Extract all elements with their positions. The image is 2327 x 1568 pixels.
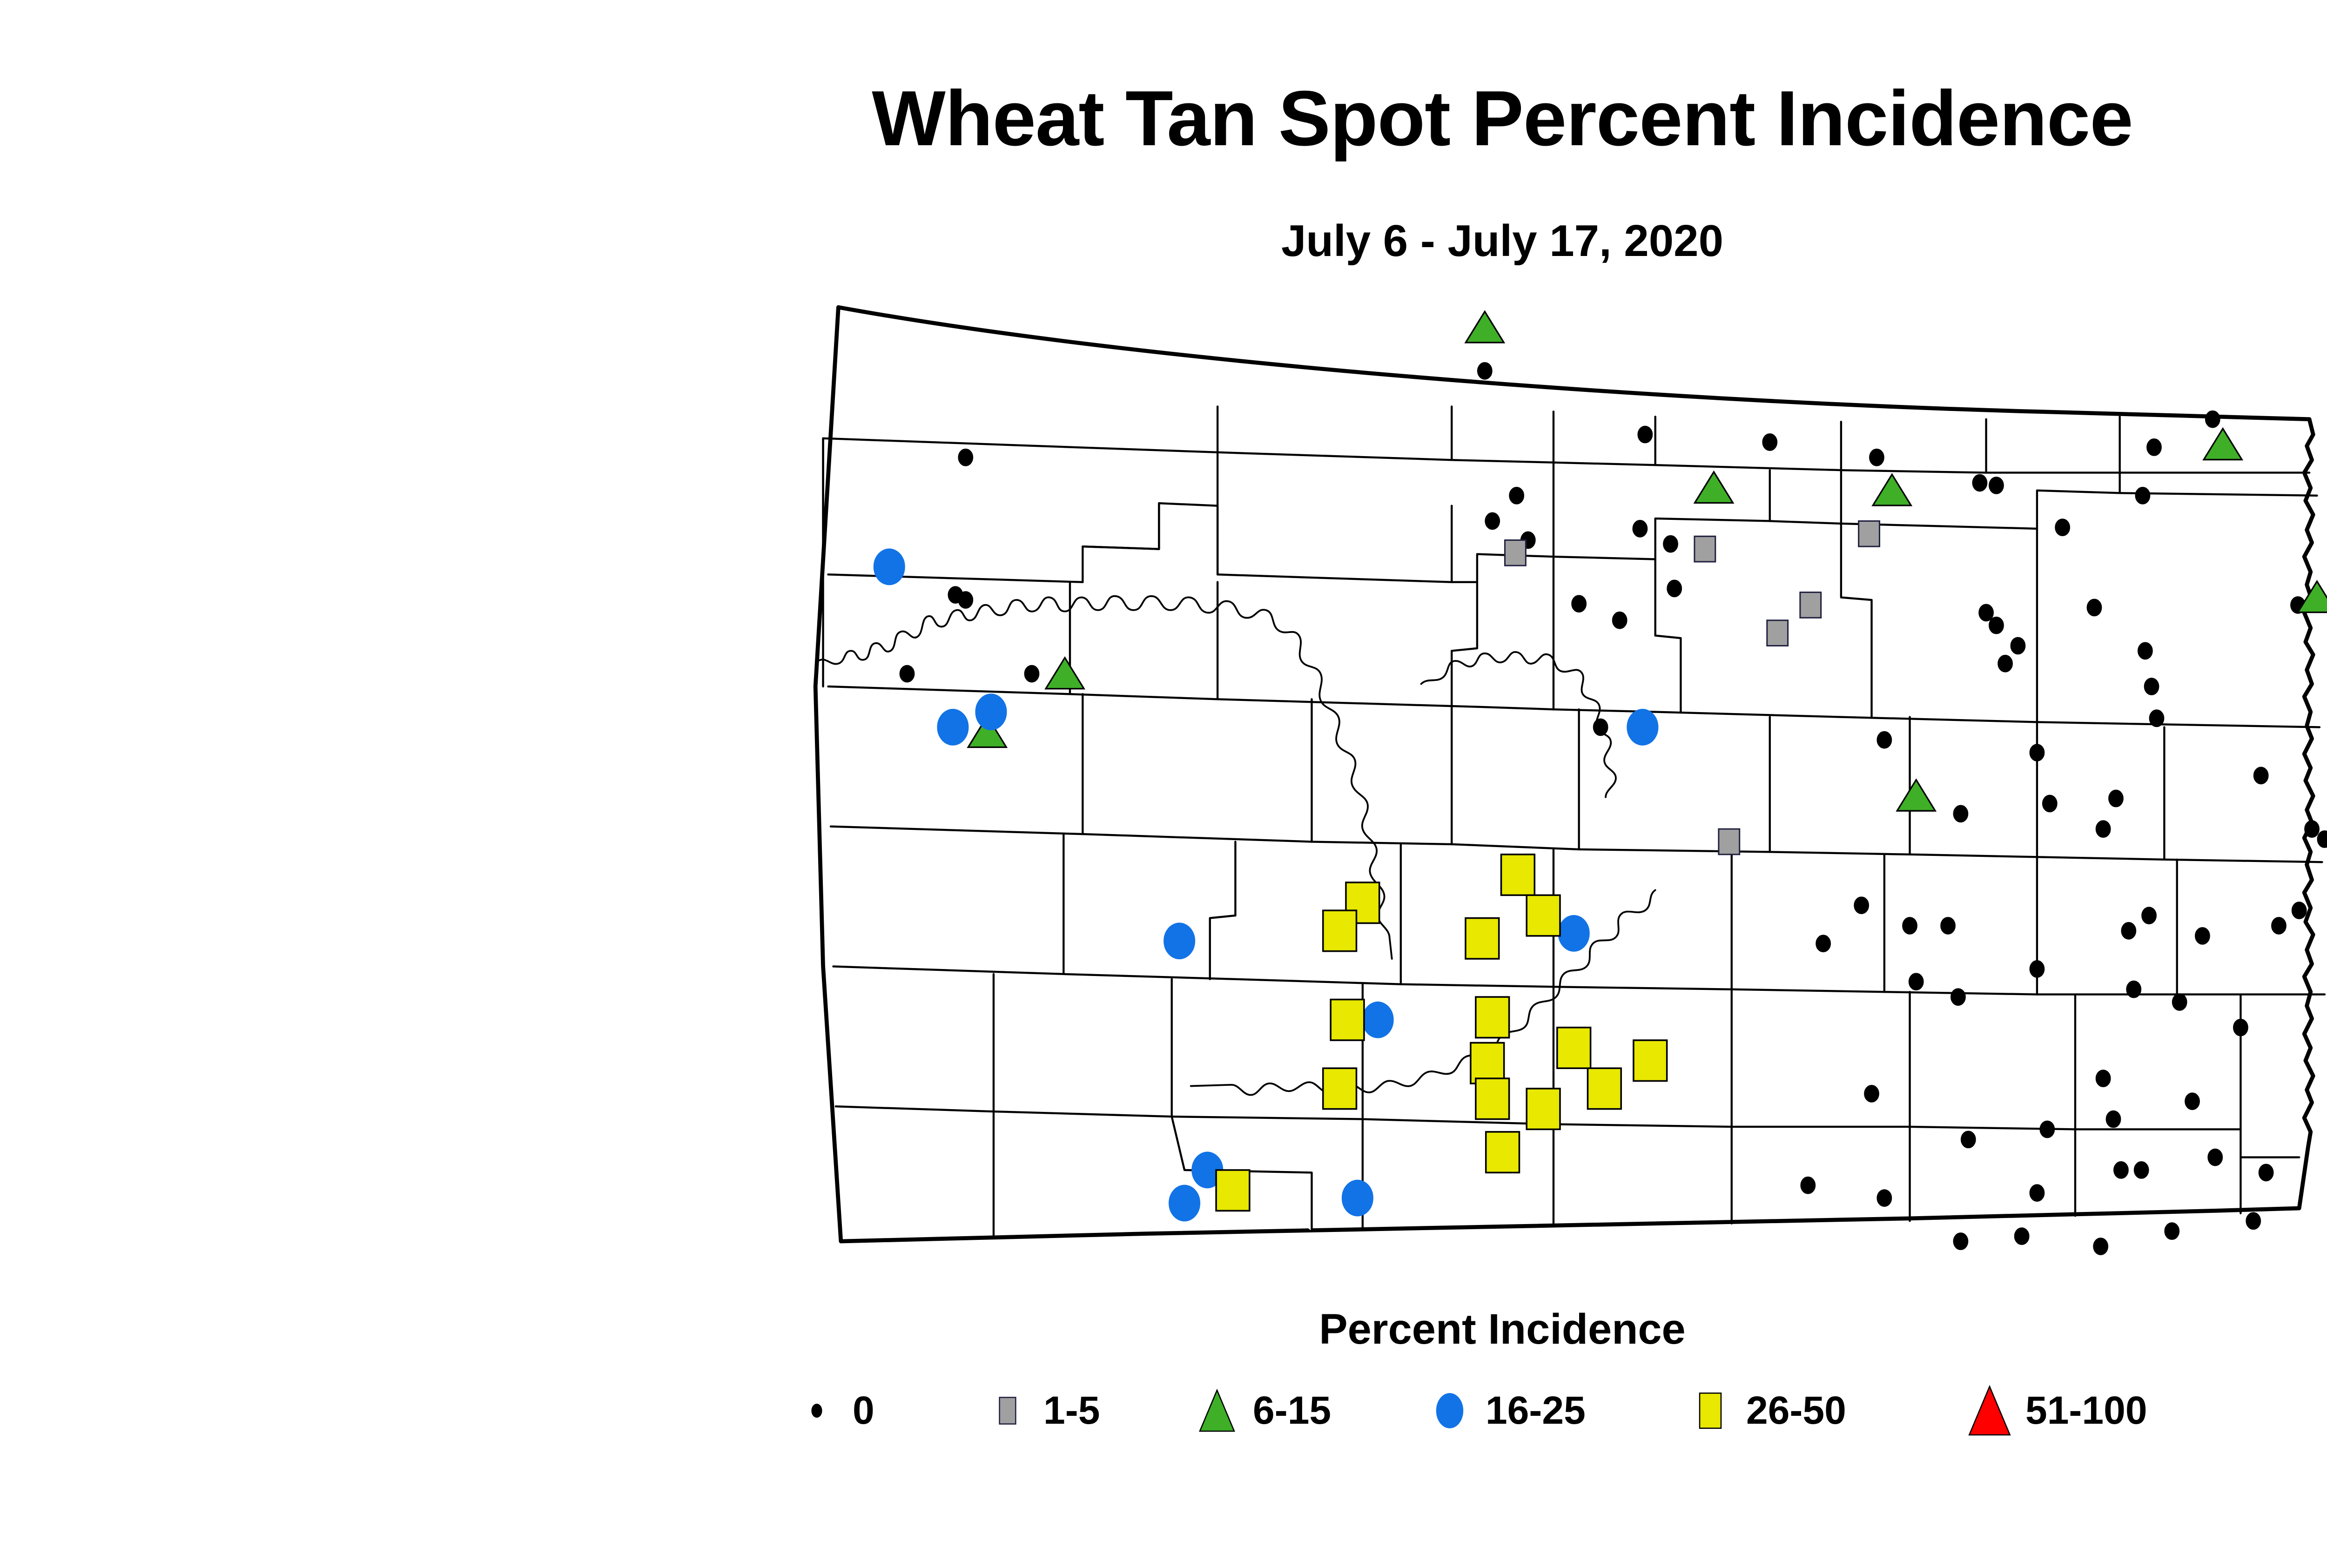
county-boundaries — [815, 307, 2325, 1241]
map-point-16-25 — [874, 549, 905, 585]
map-point-1-5 — [1800, 592, 1821, 618]
map-point-6-15 — [1466, 311, 1504, 343]
map-point-0 — [2195, 928, 2210, 944]
map-point-0 — [2254, 767, 2268, 784]
legend-symbol-square-icon — [982, 1380, 1033, 1440]
page-title: Wheat Tan Spot Percent Incidence — [0, 79, 2327, 157]
map-point-26-50 — [1634, 1040, 1667, 1081]
map-point-16-25 — [1559, 915, 1589, 951]
map-point-0 — [2030, 744, 2045, 761]
map-point-0 — [1763, 434, 1777, 451]
map-point-0 — [2087, 599, 2102, 616]
legend-symbol-triangle-icon — [1964, 1380, 2015, 1440]
map-point-16-25 — [1342, 1180, 1373, 1216]
map-point-0 — [1870, 449, 1884, 466]
map-point-0 — [1877, 732, 1892, 748]
map-point-0 — [2147, 439, 2161, 456]
map-point-0 — [2126, 981, 2141, 998]
map-point-1-5 — [1695, 536, 1715, 562]
map-point-1-5 — [1859, 521, 1880, 546]
map-point-0 — [1954, 1233, 1968, 1250]
map-point-0 — [2138, 643, 2152, 660]
map-point-0 — [2142, 907, 2156, 924]
legend-item-1-5[interactable]: 1-5 — [982, 1378, 1100, 1443]
map-point-1-5 — [1505, 540, 1526, 566]
map-point-0 — [2165, 1223, 2179, 1239]
map-point-16-25 — [1164, 923, 1195, 959]
map-point-26-50 — [1476, 997, 1509, 1037]
map-point-16-25 — [938, 709, 968, 745]
map-point-0 — [1025, 666, 1039, 682]
map-point-0 — [1854, 897, 1869, 914]
map-point-0 — [1951, 989, 1965, 1005]
map-svg — [763, 279, 2327, 1285]
map-point-1-5 — [1719, 829, 1740, 855]
map-point-0 — [1633, 520, 1648, 537]
map-point-0 — [2109, 790, 2123, 807]
map-point-26-50 — [1527, 1089, 1560, 1129]
map-point-0 — [1801, 1177, 1816, 1194]
map-point-0 — [959, 449, 973, 466]
map-point-0 — [1877, 1190, 1892, 1206]
legend-symbol-circle-icon — [1424, 1380, 1475, 1440]
map-point-0 — [1903, 917, 1917, 934]
map-point-0 — [1663, 536, 1678, 552]
map-point-0 — [2030, 961, 2045, 977]
legend: 01-56-1516-2526-5051-100 — [791, 1378, 2327, 1443]
map-point-26-50 — [1331, 1000, 1364, 1040]
legend-label: 51-100 — [2025, 1391, 2147, 1430]
map-point-0 — [2096, 1070, 2111, 1087]
map-point-0 — [1594, 719, 1608, 736]
map-point-0 — [900, 666, 915, 682]
map-point-0 — [1979, 605, 1993, 621]
map-point-26-50 — [1527, 895, 1560, 935]
map-point-26-50 — [1466, 918, 1499, 959]
legend-item-16-25[interactable]: 16-25 — [1424, 1378, 1586, 1443]
map-point-16-25 — [1169, 1185, 1200, 1221]
map-point-0 — [1973, 475, 1987, 491]
map-point-0 — [1485, 513, 1500, 530]
map-point-0 — [1638, 426, 1653, 443]
map-point-0 — [959, 592, 973, 608]
map-point-0 — [2206, 411, 2220, 428]
map-point-0 — [2145, 678, 2159, 695]
map-point-26-50 — [1323, 1068, 1357, 1109]
map-point-26-50 — [1587, 1068, 1621, 1109]
map-point-0 — [2233, 1019, 2248, 1036]
map-point-0 — [2134, 1162, 2149, 1178]
map-point-0 — [2246, 1213, 2260, 1230]
map-point-0 — [1941, 917, 1955, 934]
map-point-0 — [2106, 1111, 2121, 1128]
legend-label: 1-5 — [1043, 1391, 1100, 1430]
legend-label: 0 — [853, 1391, 874, 1430]
map-point-26-50 — [1476, 1078, 1509, 1119]
legend-label: 16-25 — [1486, 1391, 1586, 1430]
legend-label: 26-50 — [1746, 1391, 1846, 1430]
page-subtitle: July 6 - July 17, 2020 — [0, 219, 2327, 263]
map-point-0 — [1816, 935, 1830, 952]
map-point-0 — [2185, 1093, 2199, 1110]
map-point-26-50 — [1486, 1132, 1520, 1172]
legend-symbol-triangle-icon — [1191, 1380, 1243, 1440]
legend-item-6-15[interactable]: 6-15 — [1191, 1378, 1331, 1443]
map-point-0 — [1954, 806, 1968, 822]
map-point-16-25 — [1627, 709, 1658, 745]
map-point-0 — [2172, 994, 2187, 1010]
map-point-0 — [1909, 973, 1923, 990]
map-point-26-50 — [1557, 1028, 1591, 1068]
map-point-26-50 — [1501, 855, 1535, 895]
map-point-0 — [2015, 1228, 2029, 1245]
map-point-0 — [2096, 821, 2111, 837]
map-point-0 — [1613, 612, 1627, 629]
map-point-0 — [2114, 1162, 2128, 1178]
north-dakota-map — [763, 279, 2327, 1285]
legend-label: 6-15 — [1253, 1391, 1331, 1430]
map-point-26-50 — [1323, 910, 1357, 951]
map-point-0 — [2208, 1149, 2222, 1166]
map-point-1-5 — [1767, 620, 1788, 646]
map-page: Wheat Tan Spot Percent Incidence July 6 … — [0, 0, 2327, 1568]
map-point-0 — [2122, 922, 2136, 939]
map-point-0 — [2259, 1164, 2273, 1181]
map-point-0 — [2093, 1238, 2108, 1255]
map-point-26-50 — [1471, 1043, 1504, 1083]
map-point-0 — [1478, 363, 1492, 379]
map-point-0 — [1989, 617, 2004, 634]
map-point-0 — [1998, 655, 2012, 672]
map-point-0 — [1572, 595, 1586, 612]
map-point-0 — [2150, 710, 2164, 727]
legend-symbol-circle-icon — [791, 1380, 842, 1440]
map-point-0 — [2318, 831, 2327, 848]
map-point-0 — [2040, 1121, 2055, 1138]
legend-item-51-100[interactable]: 51-100 — [1964, 1378, 2147, 1443]
legend-item-26-50[interactable]: 26-50 — [1685, 1378, 1846, 1443]
map-point-0 — [2272, 917, 2286, 934]
map-point-16-25 — [976, 694, 1007, 730]
map-point-0 — [1961, 1131, 1976, 1148]
map-point-0 — [2292, 902, 2307, 919]
legend-symbol-square-icon — [1685, 1380, 1736, 1440]
legend-item-0[interactable]: 0 — [791, 1378, 874, 1443]
map-point-0 — [2030, 1184, 2045, 1201]
map-point-0 — [2136, 487, 2150, 504]
map-point-0 — [2011, 638, 2025, 654]
map-point-0 — [2055, 519, 2070, 536]
map-point-0 — [1509, 487, 1524, 504]
map-point-0 — [1864, 1085, 1879, 1102]
map-point-0 — [1667, 580, 1681, 597]
legend-title: Percent Incidence — [0, 1308, 2327, 1351]
map-point-0 — [2305, 821, 2319, 837]
map-point-26-50 — [1216, 1170, 1250, 1211]
map-point-16-25 — [1363, 1002, 1393, 1038]
map-point-0 — [1989, 477, 2004, 494]
map-point-0 — [2043, 795, 2057, 812]
